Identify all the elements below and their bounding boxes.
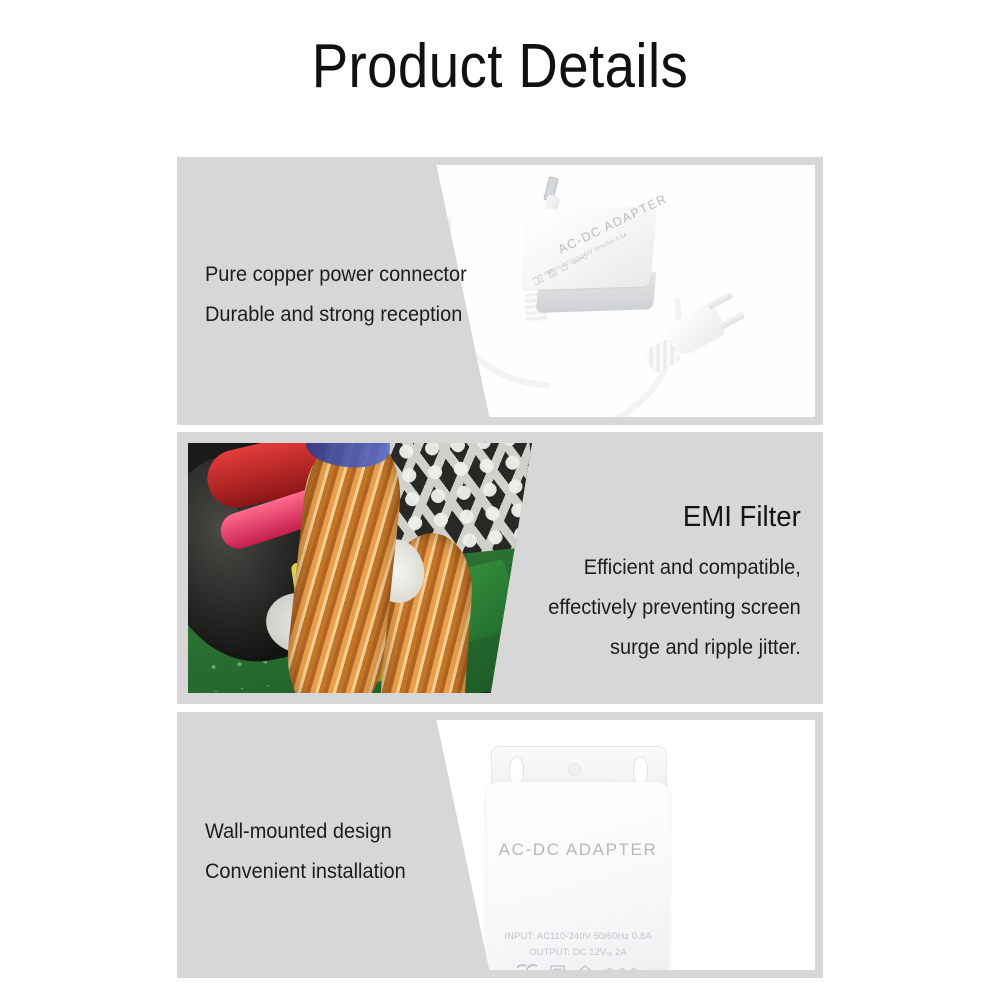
ce-mark-icon: [517, 964, 539, 970]
panel-2-line-2: effectively preventing screen: [549, 588, 801, 628]
adapter-body: [518, 199, 665, 322]
panel-1-line-2: Durable and strong reception: [205, 295, 467, 335]
panel-2-line-1: Efficient and compatible,: [549, 548, 801, 588]
adapter-front-case: AC-DC ADAPTER INPUT: AC110-240V 50/60Hz …: [487, 782, 669, 970]
page-title: Product Details: [60, 34, 940, 99]
panel-3-line-2: Convenient installation: [205, 852, 406, 892]
adapter-brand-text: AC-DC ADAPTER: [487, 840, 669, 860]
adapter-output-text: OUTPUT: DC 12V⏨ 2A: [487, 946, 669, 958]
indoor-use-house-icon: [576, 964, 594, 970]
feature-panel-emi-filter: EMI Filter Efficient and compatible, eff…: [177, 432, 823, 704]
feature-panel-connector: AC-DC ADAPTER INPUT: AC110-240V 50/60Hz …: [177, 157, 823, 425]
panel-2-text-block: EMI Filter Efficient and compatible, eff…: [535, 494, 801, 668]
product-details-page: Product Details: [0, 0, 1000, 1000]
plug-pin-icon: [719, 311, 745, 329]
center-screw-hole-icon: [569, 764, 580, 775]
class-two-double-insulation-icon: [550, 965, 565, 971]
panel-3-line-1: Wall-mounted design: [205, 812, 406, 852]
keyhole-slot-left-icon: [509, 756, 524, 784]
emi-filter-circuit-board-photo: [188, 443, 532, 693]
keyhole-slot-right-icon: [633, 756, 648, 784]
panel-2-line-3: surge and ripple jitter.: [549, 628, 801, 668]
plug-pin-icon: [707, 291, 733, 309]
feature-panel-wall-mount: AC-DC ADAPTER INPUT: AC110-240V 50/60Hz …: [177, 712, 823, 978]
adapter-certification-symbols: [487, 964, 669, 970]
panel-3-text-block: Wall-mounted design Convenient installat…: [205, 812, 416, 892]
center-positive-polarity-icon: [605, 966, 639, 970]
adapter-input-text: INPUT: AC110-240V 50/60Hz 0.8A: [487, 930, 669, 941]
wall-mounted-adapter-front-photo: AC-DC ADAPTER INPUT: AC110-240V 50/60Hz …: [375, 720, 815, 970]
panel-1-line-1: Pure copper power connector: [205, 255, 467, 295]
panel-2-heading: EMI Filter: [549, 494, 801, 540]
panel-1-text-block: Pure copper power connector Durable and …: [205, 255, 481, 335]
